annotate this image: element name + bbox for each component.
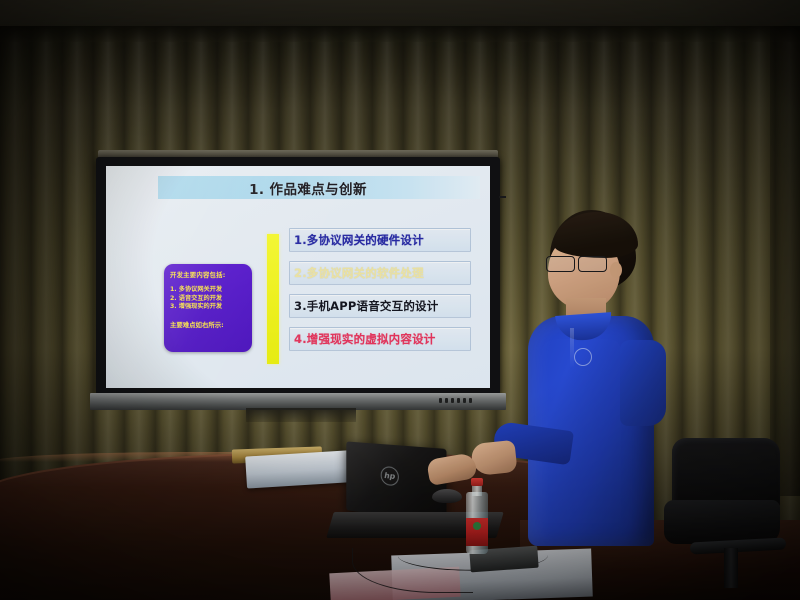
office-chair-post	[724, 548, 738, 588]
callout-list-item: 3. 增强现实的开发	[170, 303, 247, 312]
list-item-label: 3.手机APP语音交互的设计	[294, 298, 438, 314]
display-button[interactable]	[439, 398, 442, 403]
callout-list-item: 1. 多协议网关开发	[170, 286, 247, 295]
display-button[interactable]	[445, 398, 448, 403]
list-item-label: 1.多协议网关的硬件设计	[294, 232, 424, 248]
list-item: 2.多协议网关的软件处理	[289, 261, 471, 285]
display-control-buttons[interactable]	[439, 398, 472, 403]
slide-title: 1. 作品难点与创新	[158, 177, 458, 199]
presenter	[470, 190, 720, 600]
callout-heading: 开发主要内容包括:	[170, 270, 247, 279]
display-button[interactable]	[457, 398, 460, 403]
glasses-icon	[544, 256, 620, 271]
presentation-slide: 1. 作品难点与创新 开发主要内容包括: 1. 多协议网关开发 2. 语音交互的…	[106, 166, 490, 388]
display-mount	[246, 408, 356, 422]
slide-list: 1.多协议网关的硬件设计 2.多协议网关的软件处理 3.手机APP语音交互的设计…	[289, 228, 471, 360]
curtain-rail	[0, 26, 800, 42]
presenter-hand	[470, 440, 517, 476]
hp-logo-icon: hp	[381, 466, 399, 487]
list-item: 3.手机APP语音交互的设计	[289, 294, 471, 318]
photo-scene: 1. 作品难点与创新 开发主要内容包括: 1. 多协议网关开发 2. 语音交互的…	[0, 0, 800, 600]
callout-list: 1. 多协议网关开发 2. 语音交互的开发 3. 增强现实的开发	[170, 286, 247, 312]
callout-footer: 主要难点如右所示:	[170, 320, 247, 329]
display-button[interactable]	[463, 398, 466, 403]
computer-mouse[interactable]	[432, 489, 462, 503]
list-item: 1.多协议网关的硬件设计	[289, 228, 471, 252]
shirt-logo-icon	[574, 348, 592, 366]
wall-display[interactable]: 1. 作品难点与创新 开发主要内容包括: 1. 多协议网关开发 2. 语音交互的…	[96, 150, 500, 430]
glasses-bridge	[499, 196, 506, 198]
display-screen[interactable]: 1. 作品难点与创新 开发主要内容包括: 1. 多协议网关开发 2. 语音交互的…	[106, 166, 490, 388]
list-item-label: 4.增强现实的虚拟内容设计	[294, 331, 435, 347]
list-item-label: 2.多协议网关的软件处理	[294, 265, 424, 281]
presenter-sleeve	[620, 340, 666, 426]
list-item: 4.增强现实的虚拟内容设计	[289, 327, 471, 351]
callout-list-item: 2. 语音交互的开发	[170, 295, 247, 304]
presenter-placket	[570, 328, 574, 368]
slide-callout-box: 开发主要内容包括: 1. 多协议网关开发 2. 语音交互的开发 3. 增强现实的…	[164, 264, 252, 352]
wall-right-shadow	[770, 26, 800, 496]
slide-accent-bar	[267, 234, 279, 364]
display-button[interactable]	[451, 398, 454, 403]
